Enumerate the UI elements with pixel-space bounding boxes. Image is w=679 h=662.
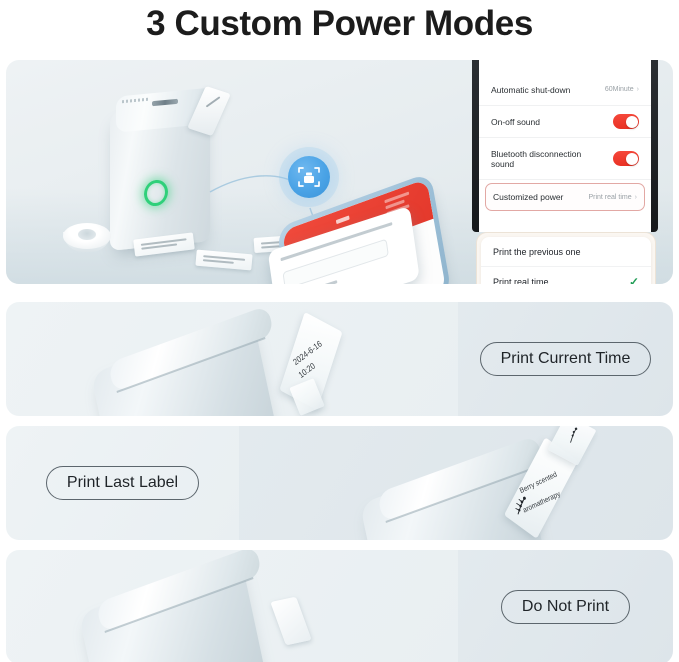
toggle-knob <box>626 153 638 165</box>
empty-tape-slot <box>270 597 311 646</box>
mode-caption-do-not-print: Do Not Print <box>501 590 630 624</box>
settings-row-label: On-off sound <box>491 117 540 127</box>
settings-row-customized-power[interactable]: Customized power Print real time› <box>485 183 645 211</box>
mode-panel-split: 2024-6-16 10:20 Print Current Time <box>6 302 673 416</box>
mode-caption-area: Print Current Time <box>458 302 673 416</box>
toggle-bluetooth-disconnection-sound[interactable] <box>613 151 639 166</box>
dialog-input-box <box>282 239 388 284</box>
settings-row-on-off-sound[interactable]: On-off sound <box>479 106 651 138</box>
mode-illustration-area <box>6 550 458 662</box>
settings-value-text: Print real time <box>588 194 631 201</box>
scan-print-icon <box>288 156 330 198</box>
toggle-on-off-sound[interactable] <box>613 114 639 129</box>
mode-panel-split: Do Not Print <box>6 550 673 662</box>
berry-sprig-icon <box>563 426 584 445</box>
dropdown-option-print-the-previous-one[interactable]: Print the previous one <box>481 237 651 267</box>
settings-row-label: Customized power <box>493 192 563 202</box>
dropdown-inner: Print the previous one Print real time ✓… <box>481 237 651 284</box>
settings-row-bluetooth-disconnection-sound[interactable]: Bluetooth disconnection sound <box>479 138 651 180</box>
printer-settings-screen: Automatic shut-down 60Minute› On-off sou… <box>472 60 658 232</box>
tape-roll <box>63 223 111 257</box>
mode-caption-print-current-time: Print Current Time <box>480 342 652 376</box>
label-printer-device <box>86 570 276 662</box>
tape-roll-core <box>78 229 96 240</box>
toggle-knob <box>626 116 638 128</box>
page-title: 3 Custom Power Modes <box>0 2 679 46</box>
settings-value-text: 60Minute <box>605 86 634 93</box>
tape-print-line <box>206 96 221 107</box>
settings-row-value: 60Minute› <box>605 86 639 93</box>
chevron-right-icon: › <box>637 86 639 93</box>
phone-bezel-left <box>472 60 479 232</box>
chevron-right-icon: › <box>635 194 637 201</box>
phone-bezel-right <box>651 60 658 232</box>
mode-panel-split: Print Last Label Berry scented aromather… <box>6 426 673 540</box>
mode-panel-do-not-print: Do Not Print <box>6 550 673 662</box>
mode-illustration-area: Berry scented aromatherapy <box>239 426 673 540</box>
power-mode-dropdown: Print the previous one Print real time ✓… <box>476 232 656 284</box>
infographic-root: 3 Custom Power Modes <box>0 0 679 662</box>
dropdown-option-print-real-time[interactable]: Print real time ✓ <box>481 267 651 284</box>
mode-panel-print-current-time: 2024-6-16 10:20 Print Current Time <box>6 302 673 416</box>
settings-sheet: Automatic shut-down 60Minute› On-off sou… <box>479 60 651 232</box>
settings-row-automatic-shut-down[interactable]: Automatic shut-down 60Minute› <box>479 74 651 106</box>
mode-panel-print-last-label: Print Last Label Berry scented aromather… <box>6 426 673 540</box>
mode-caption-area: Do Not Print <box>458 550 673 662</box>
mode-caption-print-last-label: Print Last Label <box>46 466 199 500</box>
mode-illustration-area: 2024-6-16 10:20 <box>6 302 458 416</box>
settings-row-value: Print real time› <box>588 194 637 201</box>
check-icon: ✓ <box>629 275 639 285</box>
settings-row-label: Bluetooth disconnection sound <box>491 149 595 169</box>
mode-caption-area: Print Last Label <box>6 426 239 540</box>
label-printer-device <box>110 88 214 248</box>
label-printer-device <box>98 330 288 416</box>
settings-row-label: Automatic shut-down <box>491 85 570 95</box>
hero-panel: Automatic shut-down 60Minute› On-off sou… <box>6 60 673 284</box>
dropdown-option-label: Print real time <box>493 277 549 285</box>
dropdown-option-label: Print the previous one <box>493 247 581 257</box>
